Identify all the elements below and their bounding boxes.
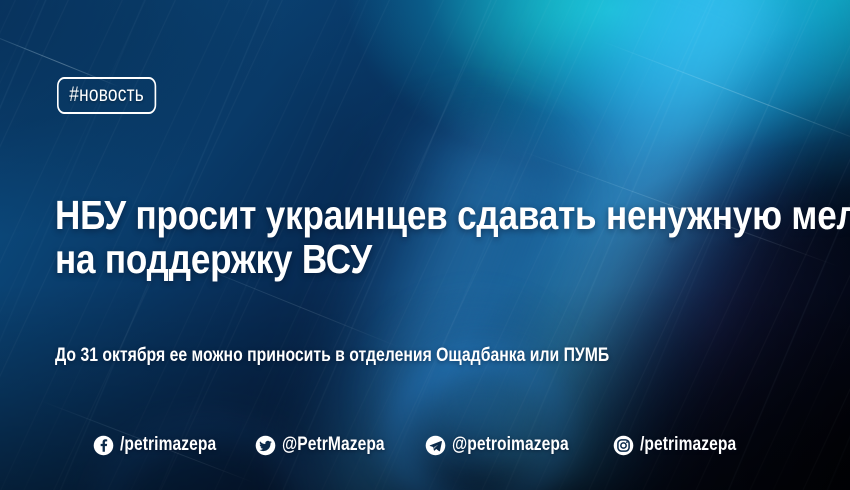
social-handle-facebook: /petrimazepa — [120, 434, 216, 456]
social-link-instagram[interactable]: /petrimazepa — [613, 434, 757, 456]
social-link-facebook[interactable]: /petrimazepa — [93, 434, 237, 456]
facebook-icon — [93, 435, 114, 456]
social-link-telegram[interactable]: @petroimazepa — [425, 434, 594, 456]
headline-line-2: на поддержку ВСУ — [55, 237, 705, 281]
instagram-icon — [613, 435, 634, 456]
news-card: #новость НБУ просит украинцев сдавать не… — [0, 0, 850, 490]
page-title: НБУ просит украинцев сдавать ненужную ме… — [55, 193, 705, 281]
social-handle-telegram: @petroimazepa — [452, 434, 569, 456]
subtitle: До 31 октября ее можно приносить в отдел… — [55, 345, 609, 367]
telegram-icon — [425, 435, 446, 456]
social-handle-twitter: @PetrMazepa — [282, 434, 385, 456]
social-link-twitter[interactable]: @PetrMazepa — [255, 434, 407, 456]
card-content: #новость НБУ просит украинцев сдавать не… — [0, 0, 850, 490]
social-links-bar: /petrimazepa @PetrMazepa — [0, 434, 850, 456]
social-handle-instagram: /petrimazepa — [640, 434, 736, 456]
twitter-icon — [255, 435, 276, 456]
headline-line-1: НБУ просит украинцев сдавать ненужную ме… — [55, 193, 705, 237]
category-badge-label: #новость — [69, 83, 144, 107]
category-badge[interactable]: #новость — [57, 77, 156, 114]
